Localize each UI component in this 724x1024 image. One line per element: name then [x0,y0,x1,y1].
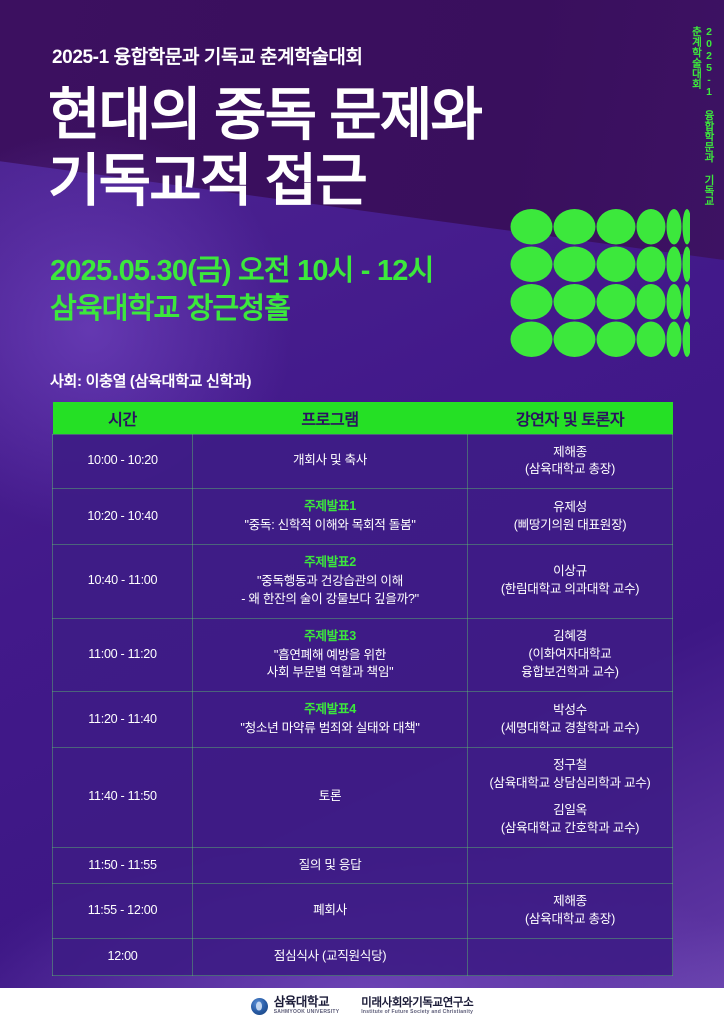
speaker-line: (삼육대학교 간호학과 교수) [474,820,666,838]
ellipse-dot [683,322,691,358]
poster-title-line1: 현대의 중독 문제와 [48,83,481,147]
schedule-row: 10:20 - 10:40주제발표1"중독: 신학적 이해와 목회적 돌봄"유제… [53,489,673,545]
speaker-line: (삼육대학교 총장) [474,461,666,479]
speaker-line: (세명대학교 경찰학과 교수) [474,720,666,738]
program-line: "흡연폐해 예방을 위한 [199,647,461,665]
university-logo-text: 삼육대학교 SAHMYOOK UNIVERSITY [274,996,340,1015]
program-line: - 왜 한잔의 술이 강물보다 깊을까?" [199,591,461,609]
ellipse-dot [667,284,682,320]
cell-program: 주제발표1"중독: 신학적 이해와 목회적 돌봄" [193,489,468,545]
event-host: 사회: 이충열 (삼육대학교 신학과) [50,370,251,391]
cell-time: 12:00 [53,939,193,976]
speaker-line: 정구철 [474,757,666,775]
poster-eyebrow: 2025-1 융합학문과 기독교 춘계학술대회 [52,42,363,69]
program-line: 점심식사 (교직원식당) [199,948,461,966]
cell-program: 점심식사 (교직원식당) [193,939,468,976]
cell-time: 11:00 - 11:20 [53,618,193,692]
program-line: "중독행동과 건강습관의 이해 [199,573,461,591]
ellipse-dot [511,284,553,320]
cell-program: 개회사 및 축사 [193,434,468,489]
ellipse-dot [683,209,691,245]
poster-title: 현대의 중독 문제와 기독교적 접근 [48,82,481,214]
speaker-line: (한림대학교 의과대학 교수) [474,581,666,599]
schedule-table: 시간 프로그램 강연자 및 토론자 10:00 - 10:20개회사 및 축사제… [52,402,673,976]
program-line: 개회사 및 축사 [199,452,461,470]
institute-name-en: Institute of Future Society and Christia… [361,1010,473,1015]
ellipse-dot [597,247,636,283]
speaker-line: 이상규 [474,563,666,581]
cell-time: 10:00 - 10:20 [53,434,193,489]
cell-program: 주제발표4"청소년 마약류 범죄와 실태와 대책" [193,692,468,748]
ellipse-dot [511,247,553,283]
ellipse-dot [511,209,553,245]
topic-tag: 주제발표4 [199,701,461,719]
ellipse-dot [683,284,691,320]
schedule-row: 10:40 - 11:00주제발표2"중독행동과 건강습관의 이해- 왜 한잔의… [53,545,673,619]
logo-institute: 미래사회와기독교연구소 Institute of Future Society … [361,997,473,1015]
program-line: "청소년 마약류 범죄와 실태와 대책" [199,720,461,738]
speaker-line: 박성수 [474,702,666,720]
ellipse-dot [554,209,596,245]
cell-time: 11:55 - 12:00 [53,884,193,939]
ellipse-dot [637,247,666,283]
speaker-line: (이화여자대학교 [474,646,666,664]
cell-time: 10:20 - 10:40 [53,489,193,545]
cell-speaker [468,847,673,884]
event-datetime: 2025.05.30(금) 오전 10시 - 12시 [50,255,433,287]
ellipse-dot [597,284,636,320]
vertical-side-text: 2025-1 융합학문과 기독교 춘계학술대회 [691,26,714,206]
schedule-table-head: 시간 프로그램 강연자 및 토론자 [53,402,673,434]
speaker-line: 유제성 [474,499,666,517]
institute-name-ko: 미래사회와기독교연구소 [361,997,473,1009]
ellipse-dot [683,247,691,283]
green-ellipse-grid-graphic [510,208,690,358]
speaker-line: (삼육대학교 상담심리학과 교수) [474,775,666,793]
poster-footer: 삼육대학교 SAHMYOOK UNIVERSITY 미래사회와기독교연구소 In… [0,988,724,1024]
ellipse-dot [511,322,553,358]
event-meta: 2025.05.30(금) 오전 10시 - 12시 삼육대학교 장근청홀 [50,252,433,329]
speaker-line: (삐땅기의원 대표원장) [474,517,666,535]
column-header-speaker: 강연자 및 토론자 [468,402,673,434]
program-line: "중독: 신학적 이해와 목회적 돌봄" [199,517,461,535]
cell-speaker [468,939,673,976]
university-emblem-icon [251,998,268,1015]
schedule-row: 11:50 - 11:55질의 및 응답 [53,847,673,884]
schedule-table-body: 10:00 - 10:20개회사 및 축사제해종(삼육대학교 총장)10:20 … [53,434,673,976]
speaker-line: 김일옥 [474,802,666,820]
cell-program: 토론 [193,748,468,848]
speaker-line: 제해종 [474,444,666,462]
cell-speaker: 김혜경(이화여자대학교융합보건학과 교수) [468,618,673,692]
side-text-line1: 2025-1 융합학문과 기독교 [704,26,715,206]
schedule-section: 시간 프로그램 강연자 및 토론자 10:00 - 10:20개회사 및 축사제… [52,402,672,976]
speaker-line: 김혜경 [474,628,666,646]
topic-tag: 주제발표3 [199,628,461,646]
cell-program: 질의 및 응답 [193,847,468,884]
program-line: 폐회사 [199,902,461,920]
cell-speaker: 제해종(삼육대학교 총장) [468,884,673,939]
schedule-row: 11:00 - 11:20주제발표3"흡연폐해 예방을 위한사회 부문별 역할과… [53,618,673,692]
column-header-time: 시간 [53,402,193,434]
side-text-line2: 춘계학술대회 [691,26,702,206]
cell-time: 11:50 - 11:55 [53,847,193,884]
topic-tag: 주제발표1 [199,498,461,516]
ellipse-dot [667,247,682,283]
cell-program: 주제발표2"중독행동과 건강습관의 이해- 왜 한잔의 술이 강물보다 깊을까?… [193,545,468,619]
cell-program: 폐회사 [193,884,468,939]
ellipse-dot [597,209,636,245]
cell-speaker: 유제성(삐땅기의원 대표원장) [468,489,673,545]
ellipse-dot [637,209,666,245]
poster-title-line2: 기독교적 접근 [48,148,481,214]
cell-speaker: 제해종(삼육대학교 총장) [468,434,673,489]
ellipse-dot [667,209,682,245]
schedule-row: 11:55 - 12:00폐회사제해종(삼육대학교 총장) [53,884,673,939]
ellipse-dot [597,322,636,358]
schedule-row: 12:00점심식사 (교직원식당) [53,939,673,976]
institute-logo-text: 미래사회와기독교연구소 Institute of Future Society … [361,997,473,1015]
schedule-row: 11:40 - 11:50토론정구철(삼육대학교 상담심리학과 교수)김일옥(삼… [53,748,673,848]
cell-time: 11:20 - 11:40 [53,692,193,748]
schedule-row: 11:20 - 11:40주제발표4"청소년 마약류 범죄와 실태와 대책"박성… [53,692,673,748]
university-name-ko: 삼육대학교 [274,996,340,1009]
event-venue: 삼육대학교 장근청홀 [50,290,433,328]
cell-time: 11:40 - 11:50 [53,748,193,848]
program-line: 토론 [199,788,461,806]
speaker-line: 융합보건학과 교수) [474,664,666,682]
topic-tag: 주제발표2 [199,554,461,572]
ellipse-dot [554,322,596,358]
university-name-en: SAHMYOOK UNIVERSITY [274,1010,340,1015]
column-header-program: 프로그램 [193,402,468,434]
schedule-header-row: 시간 프로그램 강연자 및 토론자 [53,402,673,434]
speaker-group-gap [474,793,666,802]
program-line: 사회 부문별 역할과 책임" [199,664,461,682]
program-line: 질의 및 응답 [199,857,461,875]
schedule-row: 10:00 - 10:20개회사 및 축사제해종(삼육대학교 총장) [53,434,673,489]
logo-sahmyook-university: 삼육대학교 SAHMYOOK UNIVERSITY [251,996,340,1015]
cell-speaker: 정구철(삼육대학교 상담심리학과 교수)김일옥(삼육대학교 간호학과 교수) [468,748,673,848]
cell-speaker: 박성수(세명대학교 경찰학과 교수) [468,692,673,748]
ellipse-dot [667,322,682,358]
conference-poster: 2025-1 융합학문과 기독교 춘계학술대회 현대의 중독 문제와 기독교적 … [0,0,724,1024]
ellipse-dot [637,284,666,320]
speaker-line: (삼육대학교 총장) [474,911,666,929]
cell-speaker: 이상규(한림대학교 의과대학 교수) [468,545,673,619]
ellipse-dot [637,322,666,358]
cell-time: 10:40 - 11:00 [53,545,193,619]
speaker-line: 제해종 [474,893,666,911]
cell-program: 주제발표3"흡연폐해 예방을 위한사회 부문별 역할과 책임" [193,618,468,692]
ellipse-dot [554,284,596,320]
ellipse-dot [554,247,596,283]
